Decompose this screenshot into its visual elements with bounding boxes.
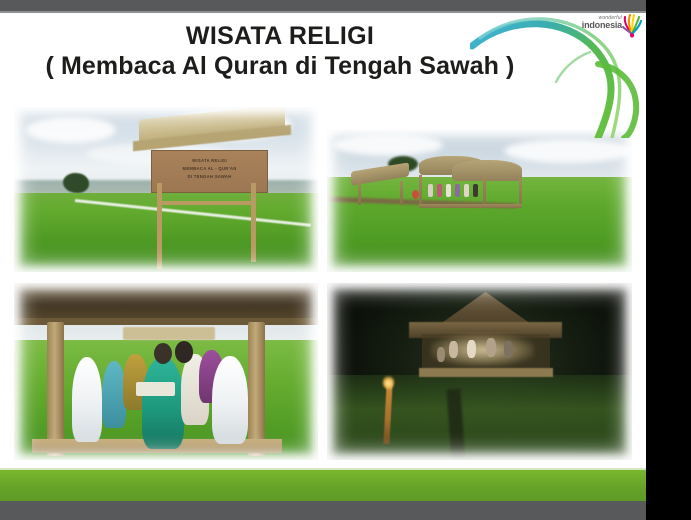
visitor-figure [455, 184, 460, 197]
right-black-gutter [646, 0, 691, 520]
wonderful-indonesia-fan-mark [622, 12, 642, 38]
top-gray-band [0, 0, 646, 11]
slide-canvas: wonderful indonesia WISATA RELIGI ( Memb… [0, 0, 691, 520]
sign-line-3: DI TENGAH SAWAH [188, 174, 232, 179]
photo-signboard-hut: WISATA RELIGI MEMBACA AL - QUR'AN DI TEN… [14, 107, 318, 272]
bamboo-cross-beam [157, 201, 251, 205]
visitor-figure [437, 347, 445, 362]
torch-flame [383, 375, 394, 389]
visitor-figure [464, 184, 469, 197]
gazebo-deck [419, 368, 553, 377]
brand-wordmark: wonderful indonesia [578, 16, 622, 31]
worshipper-white-robe [72, 357, 102, 442]
visitor-figure [473, 184, 478, 197]
sign-board-text: WISATA RELIGI MEMBACA AL - QUR'AN DI TEN… [152, 157, 268, 181]
wonderful-indonesia-logo: wonderful indonesia [578, 12, 640, 42]
inner-gazebo-roof [123, 327, 214, 339]
visitor-figure [449, 341, 458, 358]
sign-line-2: MEMBACA AL - QUR'AN [183, 166, 237, 171]
tree-silhouette [63, 173, 89, 193]
gazebo-roof-underside [14, 283, 318, 322]
brand-word-indonesia: indonesia [578, 21, 622, 30]
photo-gazebos-daytime: Two thatched bamboo gazebos with a group… [327, 130, 632, 272]
bamboo-post [157, 183, 162, 269]
worshipper-green-robe [142, 357, 185, 449]
gazebo-deck [419, 204, 523, 208]
visitor-figure [437, 184, 442, 197]
visitor-figure [428, 184, 433, 197]
sign-line-1: WISATA RELIGI [192, 158, 227, 163]
visitor-figure [467, 340, 476, 358]
worshipper-head [175, 341, 193, 362]
bamboo-post [251, 183, 256, 262]
page-title: WISATA RELIGI ( Membaca Al Quran di Teng… [0, 22, 560, 81]
bamboo-pillar [47, 322, 64, 457]
gazebo-post [400, 181, 403, 205]
lamp-glow [431, 334, 535, 366]
bottom-green-bar [0, 470, 646, 501]
rice-paddy-field [327, 177, 632, 272]
gazebo-post [483, 175, 486, 206]
top-band-divider [0, 11, 646, 13]
photo-gazebo-night: Night view of the lit gazebo with a burn… [327, 283, 632, 460]
gazebo-post [358, 181, 361, 205]
gazebo-post [419, 175, 422, 206]
cloud-shape [26, 117, 116, 143]
title-subtitle-line: ( Membaca Al Quran di Tengah Sawah ) [0, 52, 560, 81]
worshipper-white-robe [212, 356, 248, 445]
quran-book [136, 382, 176, 396]
gazebo-roof [452, 160, 522, 181]
gazebo-post [519, 178, 522, 206]
title-main-line: WISATA RELIGI [0, 22, 560, 50]
visitor-figure [486, 338, 496, 357]
visitor-figure [446, 184, 451, 197]
visitor-figure [504, 341, 513, 358]
rice-paddy-field-night [327, 375, 632, 460]
bottom-gray-band [0, 501, 646, 520]
photo-women-reading-quran: Women in white and patterned prayer robe… [14, 283, 318, 460]
cloud-shape [504, 139, 632, 163]
bamboo-pillar [248, 322, 265, 457]
